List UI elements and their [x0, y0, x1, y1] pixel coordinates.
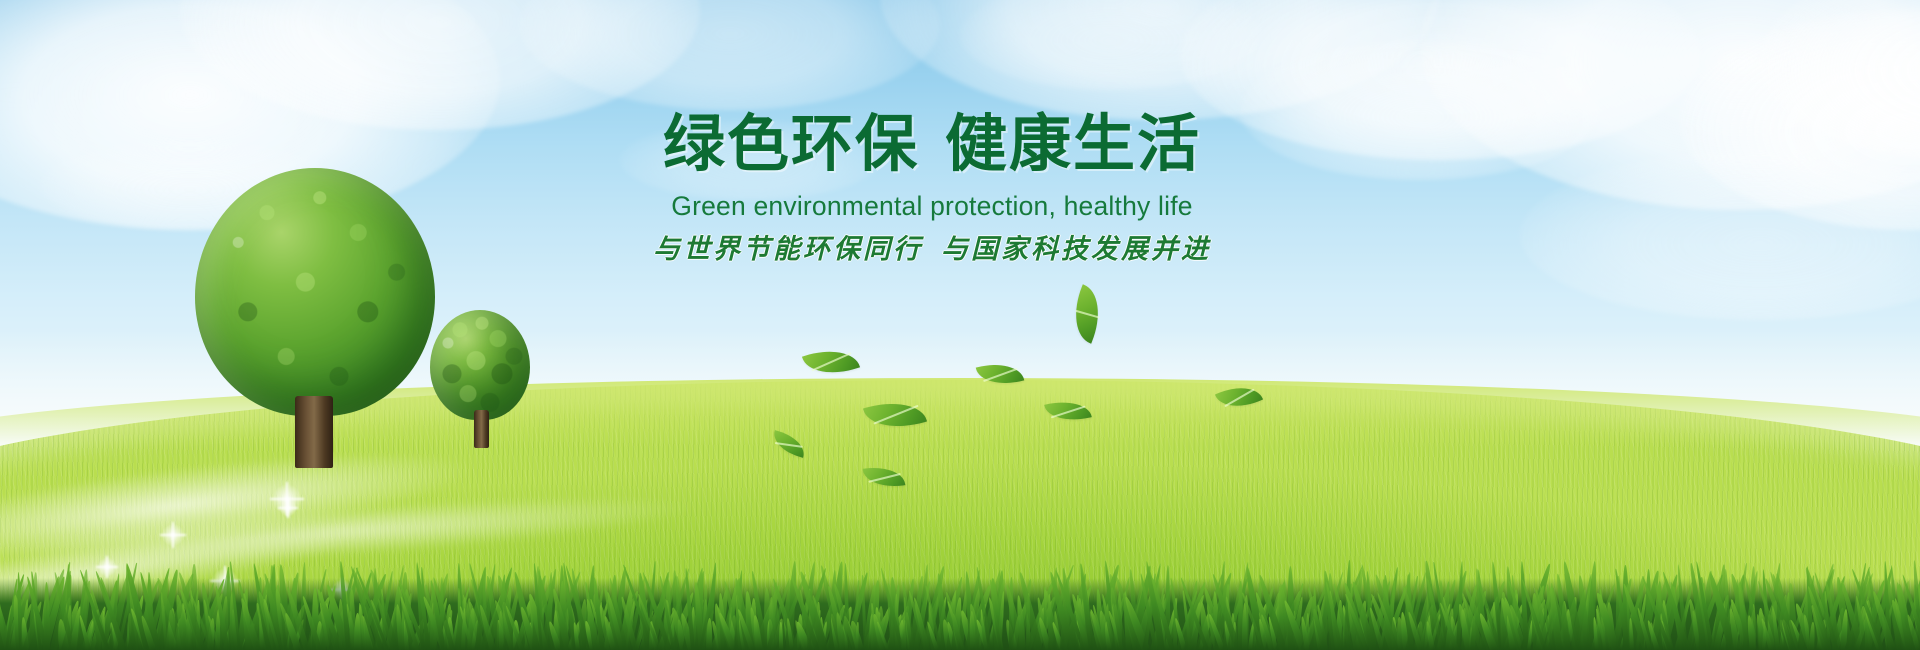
big-tree-trunk [295, 396, 333, 468]
cloud-c [520, 0, 940, 110]
cloud-m [960, 0, 1260, 90]
cloud-f [1420, 0, 1920, 210]
tagline: 与世界节能环保同行与国家科技发展并进 [622, 233, 1242, 267]
subheadline: Green environmental protection, healthy … [622, 191, 1242, 223]
big-tree-canopy [195, 168, 435, 416]
tagline-part2: 与国家科技发展并进 [941, 234, 1211, 264]
small-tree-trunk [474, 410, 489, 448]
headline-part2: 健康生活 [945, 110, 1201, 179]
tagline-part1: 与世界节能环保同行 [653, 234, 923, 264]
headline-part1: 绿色环保 [663, 110, 919, 179]
eco-banner: 绿色环保健康生活 Green environmental protection,… [0, 0, 1920, 650]
cloud-b [180, 0, 700, 130]
small-tree [430, 310, 530, 445]
small-tree-canopy [430, 310, 530, 420]
cloud-e [1180, 0, 1700, 160]
big-tree [195, 168, 435, 458]
headline: 绿色环保健康生活 [622, 112, 1242, 179]
banner-copy: 绿色环保健康生活 Green environmental protection,… [622, 112, 1242, 267]
cloud-h [1240, 40, 1600, 180]
cloud-l [1760, 0, 1920, 160]
cloud-i [1520, 150, 1920, 320]
cloud-d [880, 0, 1440, 120]
cloud-g [1680, 10, 1920, 230]
